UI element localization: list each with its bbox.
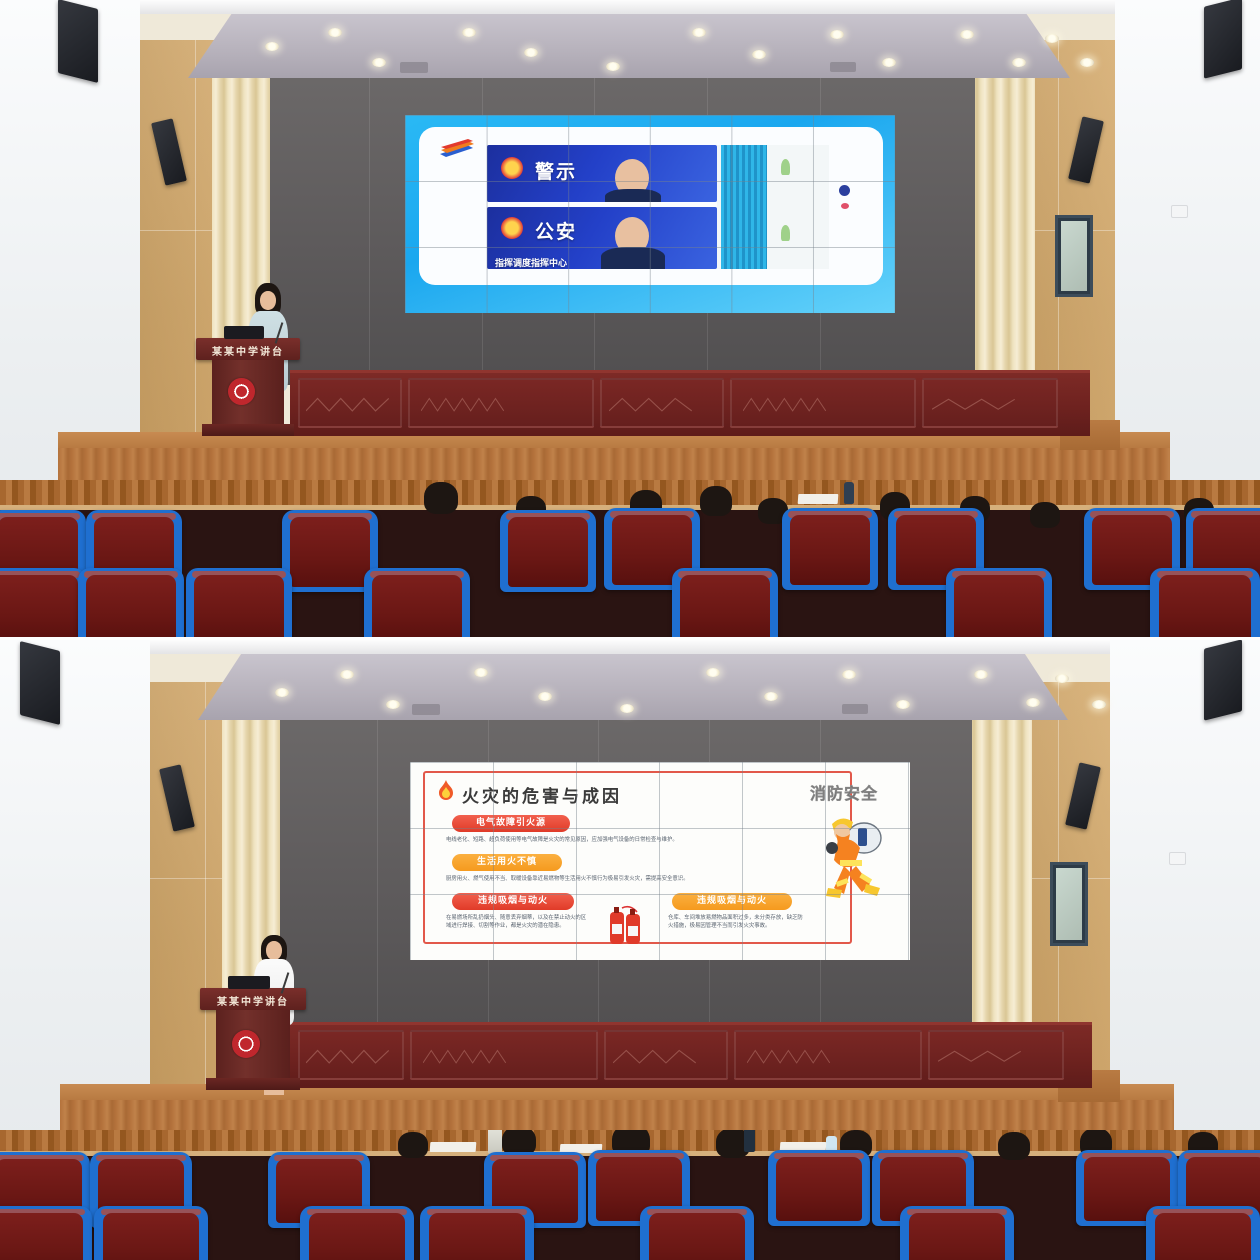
led-video-wall-bottom[interactable]: 火灾的危害与成因 电气故障引火源 电线老化、短路、超负荷使用等电气故障是火灾的常… [410, 762, 910, 960]
slide-section-heading-4: 违规吸烟与动火 [672, 893, 792, 910]
podium-nameplate-bottom: 某某中学讲台 [200, 993, 306, 1008]
audience-seating-top [0, 480, 1260, 640]
auditorium-room-bottom: 火灾的危害与成因 电气故障引火源 电线老化、短路、超负荷使用等电气故障是火灾的常… [0, 640, 1260, 1260]
ceiling-air-vent [830, 62, 856, 72]
seat [78, 568, 184, 640]
video-frame-lower: 公安 指挥调度指挥中心 [487, 207, 717, 269]
video-banner-2: 公安 [535, 217, 577, 244]
ceiling-downlight [620, 704, 634, 713]
ceiling-downlight [474, 668, 488, 677]
seat [500, 510, 596, 592]
seat [364, 568, 470, 640]
water-bottle [744, 1130, 755, 1152]
seat [1146, 1206, 1260, 1260]
podium-nameplate-top: 某某中学讲台 [196, 343, 300, 358]
ceiling-downlight [752, 50, 766, 59]
ceiling-air-vent [842, 704, 868, 714]
control-booth-window-top [1055, 215, 1093, 297]
audience-member [998, 1132, 1030, 1162]
light-switch-bottom[interactable] [1169, 852, 1186, 865]
ceiling-downlight [538, 692, 552, 701]
school-crest-emblem-bottom [232, 1030, 260, 1058]
ceiling-downlight [764, 692, 778, 701]
slide-section-body-3: 在易燃场所乱扔烟头、随意丢弃烟蒂，以及在禁止动火的区域进行焊接、切割等作业，都是… [446, 914, 588, 948]
podium-base-top [202, 424, 294, 436]
seat [420, 1206, 534, 1260]
seat [900, 1206, 1014, 1260]
ceiling-downlight [706, 668, 720, 677]
fire-extinguisher-pair [602, 902, 652, 950]
balustrade-panel [730, 378, 916, 428]
ceiling-downlight [372, 58, 386, 67]
balustrade-panel [410, 1030, 598, 1080]
seat [768, 1150, 870, 1226]
slide-section-body-4: 仓库、车间堆放易燃物品面积过多，未分类存放，缺乏防火措施，极易因管理不当而引发火… [668, 914, 804, 948]
ceiling-air-vent [412, 704, 440, 715]
video-caption: 指挥调度指挥中心 [495, 256, 567, 269]
video-frame-upper: 警示 [487, 145, 717, 202]
paper-sheet [430, 1142, 477, 1152]
ceiling-soffit-edge-bottom [150, 640, 1110, 654]
seat [0, 568, 86, 640]
water-bottle [844, 482, 854, 504]
seat [782, 508, 878, 590]
ceiling-downlight [896, 700, 910, 709]
ceiling-downlight [524, 48, 538, 57]
balustrade-panel [922, 378, 1058, 428]
balustrade-panel [734, 1030, 922, 1080]
light-switch-top[interactable] [1171, 205, 1188, 218]
ceiling-downlight [1026, 698, 1040, 707]
ceiling-downlight [386, 700, 400, 709]
seat [1150, 568, 1260, 640]
ceiling-air-vent [400, 62, 428, 73]
audience-member [1030, 502, 1060, 530]
water-bottle [488, 1130, 502, 1154]
school-crest-emblem-top [228, 378, 255, 405]
ceiling-downlight [842, 670, 856, 679]
balustrade-panel [408, 378, 594, 428]
ceiling-speaker-far-right-bottom [1204, 640, 1242, 721]
top-photograph: 警示 公安 指挥调度指挥中心 [0, 0, 1260, 640]
slide-section-heading-3: 违规吸烟与动火 [452, 893, 574, 910]
ceiling-downlight [830, 30, 844, 39]
audience-seating-bottom [0, 1130, 1260, 1260]
paper-sheet [798, 494, 839, 504]
podium-laptop-bottom [228, 976, 270, 989]
slide-section-body-2: 厨房用火、燃气使用不当、取暖设备靠近易燃物等生活用火不慎行为极易引发火灾，需提高… [446, 875, 791, 889]
ceiling-downlight [340, 670, 354, 679]
seat [640, 1206, 754, 1260]
ceiling-speaker-far-left-bottom [20, 641, 60, 725]
ceiling-downlight [265, 42, 279, 51]
balustrade-panel [928, 1030, 1064, 1080]
stacked-books-icon [437, 139, 475, 159]
audience-member [700, 486, 732, 518]
ceiling-downlight [275, 688, 289, 697]
slide-section-heading-2: 生活用火不慎 [452, 854, 562, 871]
stage-curtain-right-top [965, 60, 1035, 390]
seat [0, 1206, 92, 1260]
audience-member [398, 1132, 428, 1160]
ceiling-speaker-far-left-top [58, 0, 98, 83]
auditorium-room-top: 警示 公安 指挥调度指挥中心 [0, 0, 1260, 640]
bottom-photograph: 火灾的危害与成因 电气故障引火源 电线老化、短路、超负荷使用等电气故障是火灾的常… [0, 640, 1260, 1260]
balustrade-panel [298, 378, 402, 428]
ceiling-speaker-far-right-top [1204, 0, 1242, 79]
seat [94, 1206, 208, 1260]
ceiling-downlight [1092, 700, 1106, 709]
ceiling-downlight [328, 28, 342, 37]
slide-section-body-1: 电线老化、短路、超负荷使用等电气故障是火灾的常见原因，应加强电气设备的日常检查与… [446, 836, 766, 850]
ceiling-downlight [1045, 34, 1059, 43]
mascot-title: 消防安全 [810, 780, 878, 804]
stage-curtain-right-bottom [962, 702, 1032, 1042]
led-video-wall-top[interactable]: 警示 公安 指挥调度指挥中心 [405, 115, 895, 313]
seat [300, 1206, 414, 1260]
ceiling-downlight [606, 62, 620, 71]
screenshot-canvas: 警示 公安 指挥调度指挥中心 [0, 0, 1260, 1260]
ceiling-downlight [1080, 58, 1094, 67]
ceiling-downlight [882, 58, 896, 67]
seat [186, 568, 292, 640]
slide-section-heading-1: 电气故障引火源 [452, 815, 570, 832]
ceiling-downlight [462, 28, 476, 37]
podium-laptop-top [224, 326, 264, 339]
slide-title: 火灾的危害与成因 [462, 782, 622, 807]
ceiling-downlight [1012, 58, 1026, 67]
ceiling-downlight [974, 670, 988, 679]
video-curtain [721, 145, 767, 269]
audience-member [424, 482, 458, 516]
podium-base-bottom [206, 1078, 300, 1090]
ceiling-downlight [692, 28, 706, 37]
balustrade-panel [600, 378, 724, 428]
seat [946, 568, 1052, 640]
flame-icon [436, 779, 456, 803]
seat [672, 568, 778, 640]
ceiling-soffit-edge-top [140, 0, 1115, 14]
balustrade-panel [298, 1030, 404, 1080]
balustrade-panel [604, 1030, 728, 1080]
video-banner-1: 警示 [535, 157, 577, 184]
cartoon-firefighter-icon [818, 804, 892, 900]
ceiling-downlight [1055, 674, 1069, 683]
ceiling-downlight [960, 30, 974, 39]
control-booth-window-bottom [1050, 862, 1088, 946]
